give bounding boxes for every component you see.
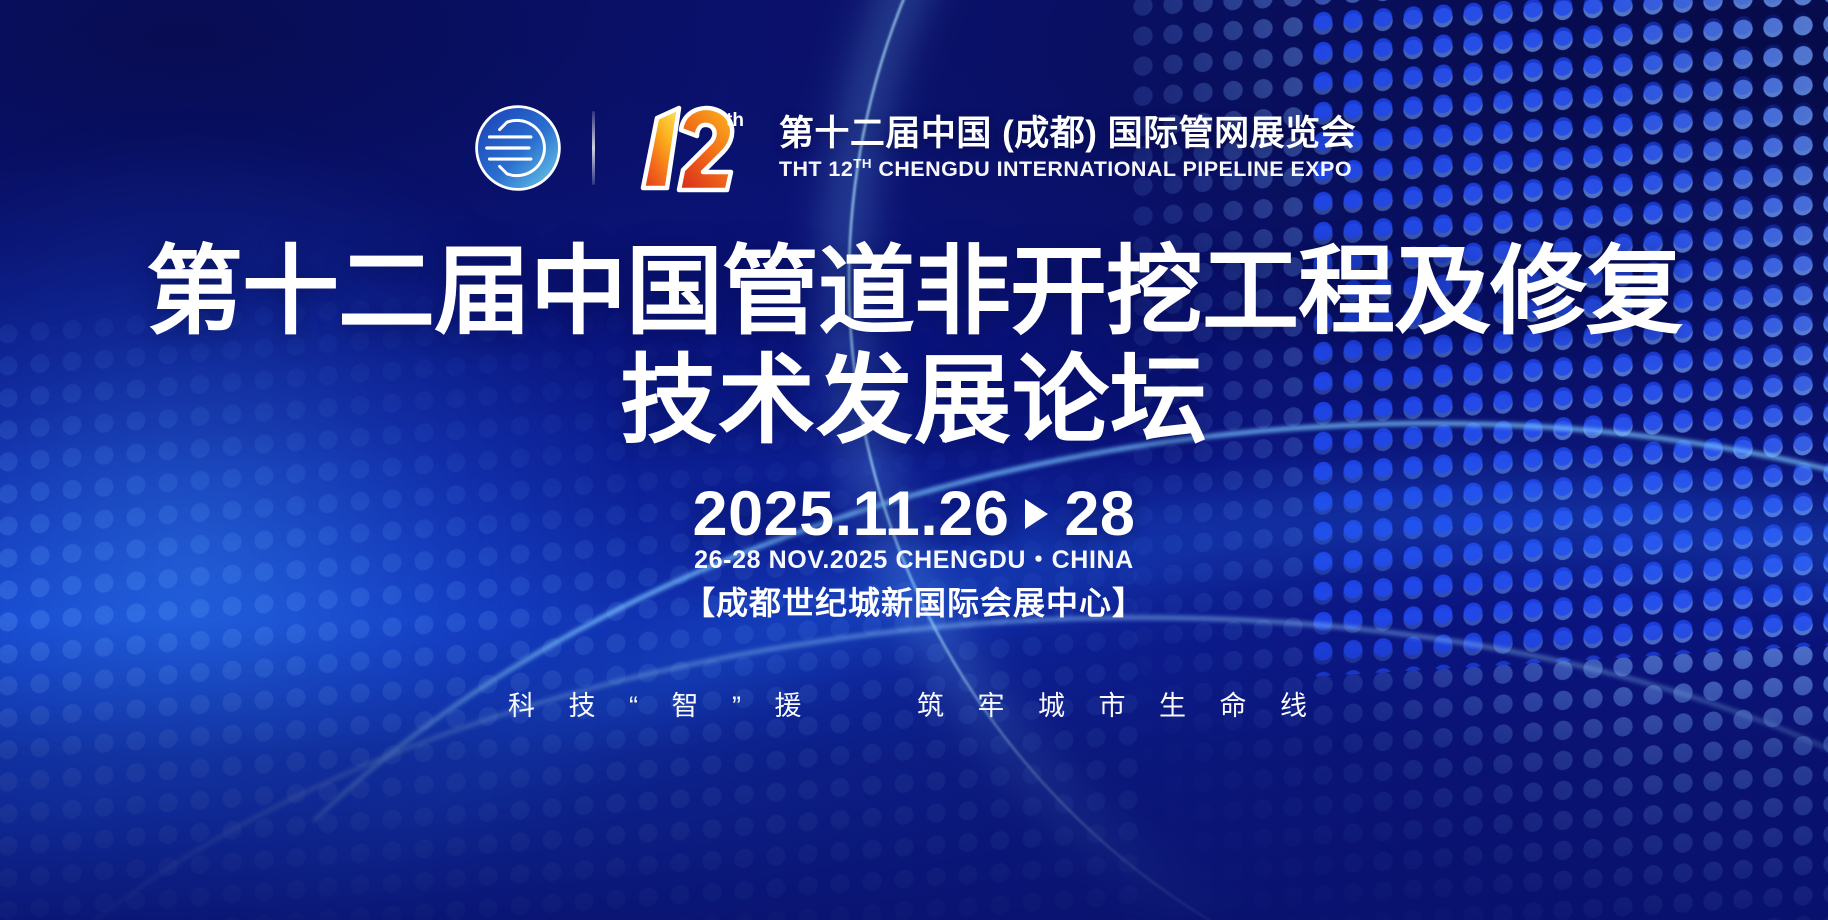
play-triangle-icon xyxy=(1025,499,1048,529)
date-start: 2025.11.26 xyxy=(693,479,1010,549)
pipeline-circle-emblem-icon xyxy=(472,102,564,194)
title-line-2: 技术发展论坛 xyxy=(0,347,1828,456)
date-end: 28 xyxy=(1064,479,1135,549)
poster-content: th 第十二届中国 (成都) 国际管网展览会 THT 12TH CHENGDU … xyxy=(0,0,1828,920)
event-venue: 【成都世纪城新国际会展中心】 xyxy=(0,578,1828,624)
brand-name-en: THT 12TH CHENGDU INTERNATIONAL PIPELINE … xyxy=(779,157,1356,181)
page-title: 第十二届中国管道非开挖工程及修复 技术发展论坛 xyxy=(0,238,1828,455)
title-line-1: 第十二届中国管道非开挖工程及修复 xyxy=(0,238,1828,347)
brand-en-rest: CHENGDU INTERNATIONAL PIPELINE EXPO xyxy=(872,157,1352,181)
svg-text:th: th xyxy=(726,110,744,131)
brand-text-block: 第十二届中国 (成都) 国际管网展览会 THT 12TH CHENGDU INT… xyxy=(779,116,1356,180)
event-slogan: 科 技 “ 智 ” 援 筑 牢 城 市 生 命 线 xyxy=(0,684,1828,723)
brand-en-ordinal: TH xyxy=(853,156,872,171)
brand-en-prefix: THT 12 xyxy=(779,157,853,181)
edition-12th-logo: th xyxy=(623,100,755,196)
brand-divider xyxy=(592,111,595,185)
brand-header: th 第十二届中国 (成都) 国际管网展览会 THT 12TH CHENGDU … xyxy=(0,100,1828,196)
event-date-english: 26-28 NOV.2025 CHENGDU・CHINA xyxy=(0,540,1828,576)
brand-name-cn: 第十二届中国 (成都) 国际管网展览会 xyxy=(779,116,1356,153)
poster-canvas: th 第十二届中国 (成都) 国际管网展览会 THT 12TH CHENGDU … xyxy=(0,0,1828,920)
